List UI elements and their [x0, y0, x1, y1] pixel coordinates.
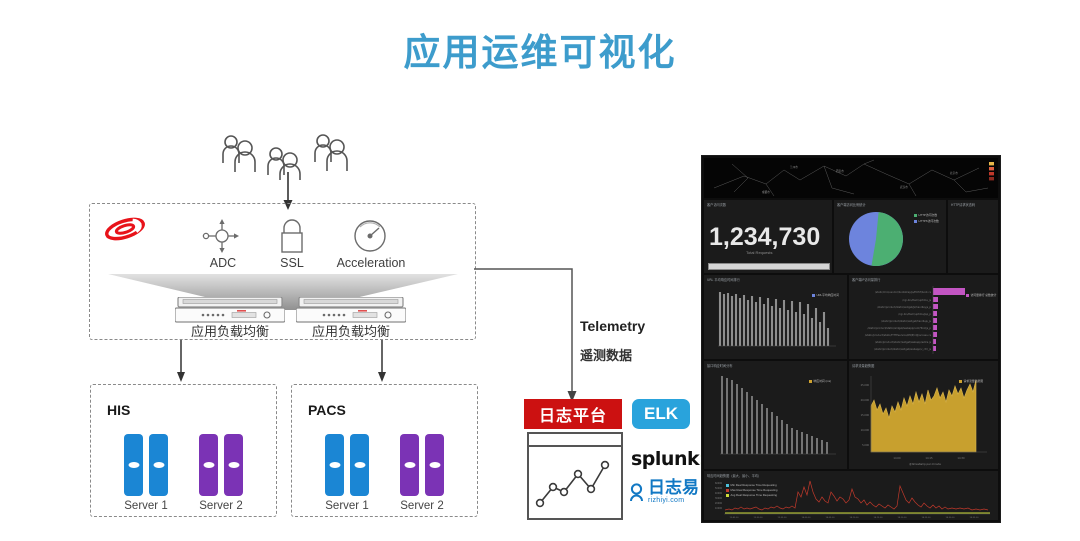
svg-text:/static/product/static/widget/: /static/product/static/widget/webapp/v_c…: [874, 347, 931, 351]
svg-text:兰州市: 兰州市: [790, 165, 798, 169]
rizhiyi-domain: rizhiyi.com: [648, 497, 699, 504]
traffic-area-title: 请求流量趋势图: [852, 363, 874, 368]
svg-text:14:15:00: 14:15:00: [874, 517, 884, 518]
line-legend-label-1: Min Real Response Time Requesting: [731, 483, 777, 487]
pie-legend-label-1: HTTP访问次数: [919, 213, 938, 217]
svg-text:/static/product/static/widget/: /static/product/static/widget/js/handley…: [877, 305, 931, 309]
pacs-server-2-label: Server 2: [389, 500, 455, 512]
svg-text:@timestamp per minute: @timestamp per minute: [909, 462, 941, 466]
traffic-area-panel[interactable]: 请求流量趋势图 25,00020,000 15,00010,000 5,000 …: [849, 361, 998, 469]
svg-text:/static/product/static/widget/: /static/product/static/widget/handlejs_j…: [881, 319, 931, 323]
svg-text:/cgi-bin/item/uptime/jsp_p: /cgi-bin/item/uptime/jsp_p: [898, 312, 931, 316]
api-latency-bar-chart: [704, 370, 847, 468]
svg-text:成都市: 成都市: [762, 190, 770, 194]
svg-text:/cgi-bin/item/uptime_js: /cgi-bin/item/uptime_js: [902, 298, 931, 302]
pacs-server-1-label: Server 1: [314, 500, 380, 512]
line-legend-item-3: Avg Real Response Time Requesting: [726, 493, 777, 497]
svg-text:50000: 50000: [715, 487, 723, 490]
svg-text:30000: 30000: [715, 497, 723, 500]
his-server-2-label: Server 2: [188, 500, 254, 512]
client-ip-legend-label: 访问量排行 总数统计: [971, 293, 997, 297]
elk-logo: ELK: [632, 399, 690, 429]
svg-text:25,000: 25,000: [861, 384, 870, 387]
pie-title: 客户端访问比例统计: [837, 202, 866, 207]
acceleration-label: Acceleration: [331, 256, 411, 270]
rizhiyi-mark-icon: [628, 483, 645, 502]
total-requests-panel[interactable]: 客户访问次数 1,234,730 Total Requests: [704, 200, 832, 273]
svg-text:14:15: 14:15: [925, 456, 933, 460]
ssl-label: SSL: [260, 256, 324, 270]
total-requests-value: 1,234,730: [709, 223, 820, 252]
client-ip-bar-panel[interactable]: 客户端IP访问量排行 /static/min/vendor/bootstrap/…: [849, 275, 998, 359]
svg-text:西安市: 西安市: [836, 169, 844, 173]
svg-text:14:25:00: 14:25:00: [922, 517, 932, 518]
appliance-1-label: 应用负载均衡: [170, 321, 290, 340]
total-requests-gauge-bar: [708, 263, 830, 270]
svg-text:5,000: 5,000: [862, 444, 869, 447]
adc-icon: [201, 218, 245, 254]
total-requests-subtitle: Total Requests: [746, 250, 772, 255]
traffic-area-legend: 请求流量趋势图: [959, 379, 983, 383]
pacs-title: PACS: [308, 402, 346, 418]
svg-text:20000: 20000: [715, 502, 723, 505]
total-requests-title: 客户访问次数: [707, 202, 726, 207]
api-latency-legend-label: 响应时间 (ms): [814, 379, 832, 383]
acceleration-gauge-icon: [351, 217, 389, 255]
svg-text:13:45:00: 13:45:00: [730, 517, 740, 518]
line-legend-label-2: Max Real Response Time Requesting: [731, 488, 778, 492]
svg-text:/static/product/static/widget/: /static/product/static/widget/webapp/ext…: [875, 340, 932, 344]
url-bar-legend-label: URL平均响应时间: [817, 293, 839, 297]
pie-legend-label-2: HTTPS访问次数: [919, 219, 939, 223]
svg-text:武汉市: 武汉市: [900, 185, 908, 189]
radware-logo: [102, 214, 148, 244]
pacs-group-box: PACS Server 1 Server 2: [291, 384, 478, 517]
svg-text:40000: 40000: [715, 492, 723, 495]
pie-legend-item-2: HTTPS访问次数: [914, 219, 939, 223]
url-bar-title: URL 平均响应时间排行: [707, 277, 740, 282]
adc-to-pacs-arrow: [373, 340, 391, 384]
response-time-line-panel[interactable]: 响应时间趋势图（最大、最小、平均） 6000050000 4000030000 …: [704, 471, 998, 520]
client-ip-title: 客户端IP访问量排行: [852, 277, 880, 282]
svg-text:/static/min/vendor/bootstrap/j: /static/min/vendor/bootstrap/js/POST/boo…: [875, 290, 932, 294]
svg-text:14:05:00: 14:05:00: [826, 517, 836, 518]
svg-text:14:20:00: 14:20:00: [898, 517, 908, 518]
svg-text:14:00:00: 14:00:00: [802, 517, 812, 518]
his-server-1-icon: Server 1: [124, 434, 168, 496]
rizhiyi-logo: 日志易 rizhiyi.com: [628, 480, 699, 504]
ssl-lock-icon: [276, 217, 308, 255]
his-server-1-label: Server 1: [113, 500, 179, 512]
splunk-wordmark: splunk: [631, 448, 699, 470]
line-legend-item-1: Min Real Response Time Requesting: [726, 483, 777, 487]
pie-chart: [843, 208, 909, 270]
svg-text:13:55:00: 13:55:00: [778, 517, 788, 518]
svg-text:14:30: 14:30: [957, 456, 965, 460]
line-legend-item-2: Max Real Response Time Requesting: [726, 488, 777, 492]
svg-text:60000: 60000: [715, 482, 723, 485]
api-latency-panel[interactable]: 接口响应时间分布 响应时间: [704, 361, 847, 469]
svg-text:20,000: 20,000: [861, 399, 870, 402]
svg-text:北京市: 北京市: [950, 171, 958, 175]
client-ip-legend: 访问量排行 总数统计: [966, 293, 996, 297]
his-title: HIS: [107, 402, 130, 418]
svg-text:10,000: 10,000: [861, 429, 870, 432]
slide-root: 应用运维可视化: [0, 0, 1080, 541]
url-response-bar-panel[interactable]: URL 平均响应时间排行: [704, 275, 847, 359]
line-legend-label-3: Avg Real Response Time Requesting: [731, 493, 777, 497]
adc-label: ADC: [189, 256, 257, 270]
rizhiyi-wordmark: 日志易: [648, 480, 699, 497]
telemetry-connector-arrow: [474, 264, 584, 406]
svg-text:/static/product/static/HTTPser: /static/product/static/HTTPservice/MQP/n…: [865, 333, 932, 337]
log-platform-tab[interactable]: 日志平台: [524, 399, 622, 429]
svg-text:14:35:00: 14:35:00: [970, 517, 980, 518]
svg-text:14:00: 14:00: [893, 456, 901, 460]
geo-map-panel[interactable]: 成都市西安市 武汉市北京市 兰州市: [704, 158, 998, 198]
page-title: 应用运维可视化: [0, 22, 1080, 76]
telemetry-label-cn: 遥测数据: [580, 345, 632, 364]
status-code-panel[interactable]: HTTP请求状态码: [948, 200, 998, 273]
adc-to-his-arrow: [172, 340, 190, 384]
traffic-area-legend-label: 请求流量趋势图: [964, 379, 984, 383]
api-latency-title: 接口响应时间分布: [707, 363, 733, 368]
svg-text:15,000: 15,000: [861, 414, 870, 417]
svg-text:10000: 10000: [715, 507, 723, 510]
svg-text:14:10:00: 14:10:00: [850, 517, 860, 518]
his-server-2-icon: Server 2: [199, 434, 243, 496]
svg-text:/static/product/static/widget/: /static/product/static/widget/webapp/v.s…: [868, 326, 932, 330]
client-ratio-pie-panel[interactable]: 客户端访问比例统计 HTTP访问次数 HTTPS访问次数: [834, 200, 946, 273]
pacs-server-2-icon: Server 2: [400, 434, 444, 496]
svg-text:14:30:00: 14:30:00: [946, 517, 956, 518]
pacs-server-1-icon: Server 1: [325, 434, 369, 496]
log-analytics-dashboard[interactable]: 成都市西安市 武汉市北京市 兰州市 客户访问次数 1,234,730 Total…: [701, 155, 1001, 523]
telemetry-label-en: Telemetry: [580, 318, 645, 334]
url-bar-legend: URL平均响应时间: [812, 293, 839, 297]
line-chart-icon: [527, 432, 623, 520]
pie-legend-item-1: HTTP访问次数: [914, 213, 937, 217]
api-latency-legend: 响应时间 (ms): [809, 379, 831, 383]
traffic-area-chart: 25,00020,000 15,00010,000 5,000 14:0014:…: [849, 370, 998, 468]
his-group-box: HIS Server 1 Server 2: [90, 384, 277, 517]
appliance-2-label: 应用负载均衡: [291, 321, 411, 340]
adc-platform-box: ADC SSL Acceleration: [89, 203, 476, 340]
svg-text:13:50:00: 13:50:00: [754, 517, 764, 518]
status-code-title: HTTP请求状态码: [951, 202, 975, 207]
